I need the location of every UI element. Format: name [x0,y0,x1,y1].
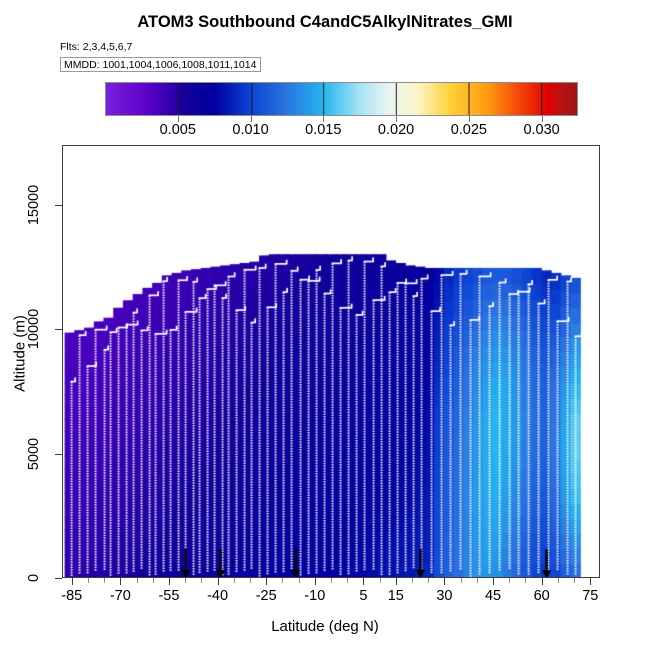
x-axis-title: Latitude (deg N) [0,618,650,635]
colorbar-tick-label: 0.005 [160,122,196,138]
x-axis-tick [120,578,121,585]
x-axis-tick [266,578,267,585]
x-axis-minor-tick [250,578,251,583]
x-axis-tick [396,578,397,585]
x-axis-tick-label: 45 [485,588,501,604]
x-axis-minor-tick [509,578,510,583]
x-axis-tick [218,578,219,585]
x-axis-tick [169,578,170,585]
x-axis-tick-label: -55 [158,588,179,604]
y-axis-tick-label: 15000 [24,155,44,255]
y-axis-tick [55,205,62,206]
page-title: ATOM3 Southbound C4andC5AlkylNitrates_GM… [0,13,650,32]
x-axis-tick-label: -85 [61,588,82,604]
y-axis-tick-label: 5000 [24,404,44,504]
colorbar-tick-label: 0.015 [305,122,341,138]
x-axis-minor-tick [185,578,186,583]
x-axis-tick-label: -40 [207,588,228,604]
colorbar-tick-label: 0.020 [378,122,414,138]
x-axis-minor-tick [412,578,413,583]
x-axis-tick-label: 15 [388,588,404,604]
x-axis-minor-tick [525,578,526,583]
x-axis-minor-tick [201,578,202,583]
x-axis-tick-label: -70 [110,588,131,604]
x-axis-minor-tick [331,578,332,583]
flights-label: Flts: 2,3,4,5,6,7 [60,41,132,53]
y-axis-title: Altitude (m) [12,294,29,414]
x-axis-minor-tick [234,578,235,583]
x-axis-minor-tick [477,578,478,583]
x-axis-tick [590,578,591,585]
y-axis-tick [55,454,62,455]
x-axis-tick-label: 5 [359,588,367,604]
x-axis-minor-tick [137,578,138,583]
x-axis-minor-tick [104,578,105,583]
x-axis-minor-tick [380,578,381,583]
colorbar-tick-label: 0.030 [523,122,559,138]
colorbar-tick-label: 0.025 [451,122,487,138]
x-axis-tick-label: -10 [304,588,325,604]
x-axis-tick-label: 60 [534,588,550,604]
colorbar [105,82,578,116]
x-axis-minor-tick [558,578,559,583]
x-axis-tick [72,578,73,585]
x-axis-minor-tick [88,578,89,583]
y-axis-tick-label: 0 [24,528,44,628]
plot-area [62,145,600,578]
figure-root: ATOM3 Southbound C4andC5AlkylNitrates_GM… [0,0,650,650]
x-axis-minor-tick [299,578,300,583]
x-axis-tick-label: 30 [436,588,452,604]
x-axis-tick [493,578,494,585]
x-axis-minor-tick [428,578,429,583]
mmdd-label: MMDD: 1001,1004,1006,1008,1011,1014 [64,59,256,71]
x-axis-tick [542,578,543,585]
curtain-heatmap [63,146,599,577]
y-axis-tick [55,578,62,579]
x-axis-minor-tick [347,578,348,583]
colorbar-gradient [106,83,577,115]
mmdd-box: MMDD: 1001,1004,1006,1008,1011,1014 [60,57,261,72]
x-axis-tick [363,578,364,585]
x-axis-minor-tick [153,578,154,583]
y-axis-tick [55,329,62,330]
x-axis-tick-label: -25 [256,588,277,604]
x-axis-tick [315,578,316,585]
plot-canvas-wrap [63,146,599,577]
colorbar-tick-label: 0.010 [232,122,268,138]
x-axis-minor-tick [574,578,575,583]
x-axis-minor-tick [282,578,283,583]
x-axis-tick [444,578,445,585]
x-axis-tick-label: 75 [582,588,598,604]
x-axis-minor-tick [461,578,462,583]
